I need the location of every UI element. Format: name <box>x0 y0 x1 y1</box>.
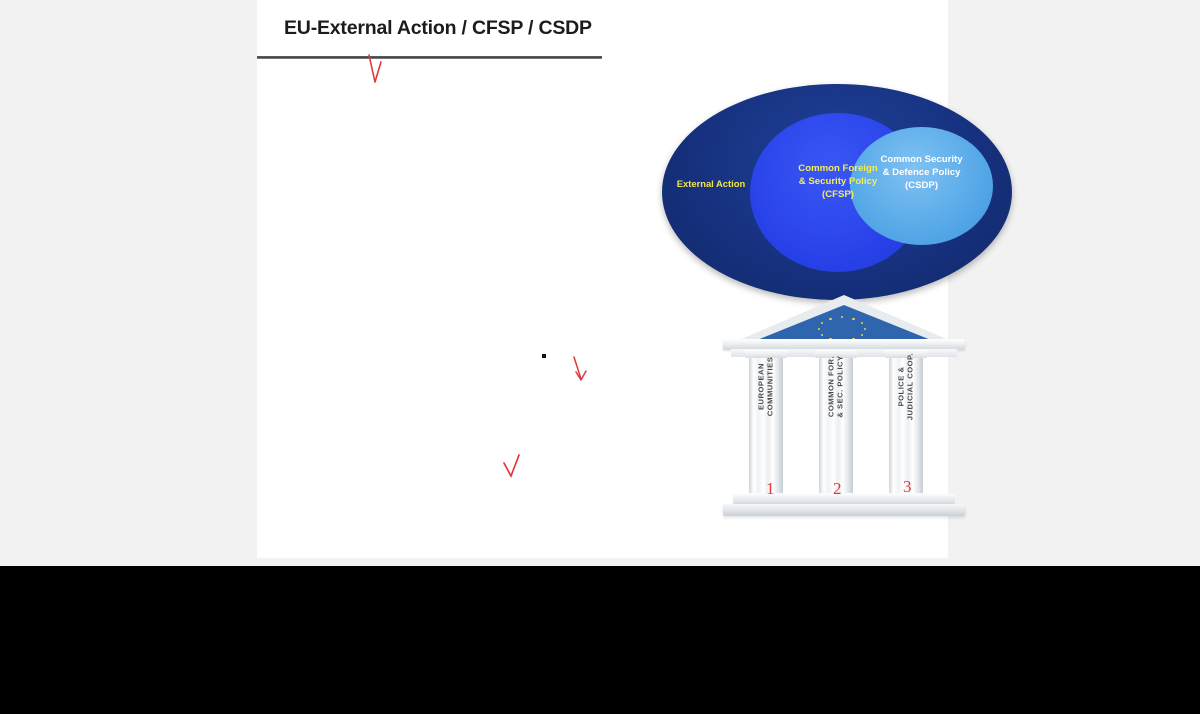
background-column-2 <box>855 359 885 491</box>
check-mark-pillar-1-icon <box>504 455 519 476</box>
pillar-3-line1: POLICE & <box>897 367 906 407</box>
arrow-to-pillar-2-icon <box>369 55 381 82</box>
presentation-slide[interactable]: EU-External Action / CFSP / CSDP Externa… <box>257 0 948 558</box>
title-underline-rule <box>257 56 602 59</box>
participant-filmstrip <box>0 566 1200 714</box>
eu-star <box>864 328 866 330</box>
pillar-3-police-judicial-cooperation: POLICE & JUDICIAL COOP. <box>889 357 923 494</box>
bullet-marker <box>542 354 546 358</box>
eu-star <box>818 328 820 330</box>
pillar-3-label: POLICE & JUDICIAL COOP. <box>897 326 916 446</box>
slide-title: EU-External Action / CFSP / CSDP <box>284 17 592 40</box>
pillar-1-european-communities: EUROPEAN COMMUNITIES <box>749 357 783 494</box>
video-conference-window: EU-External Action / CFSP / CSDP Externa… <box>0 0 1200 714</box>
pillar-1-line2: COMMUNITIES <box>766 357 775 417</box>
annotation-number-2: 2 <box>833 479 842 499</box>
slide-number: 2 <box>1141 523 1145 532</box>
eu-star <box>821 322 823 324</box>
label-csdp: Common Security & Defence Policy (CSDP) <box>854 154 989 193</box>
stereobate <box>723 504 965 516</box>
shared-screen-stage: EU-External Action / CFSP / CSDP Externa… <box>0 0 1200 566</box>
eu-star <box>852 318 854 320</box>
pillar-2-line1: COMMON FOR. <box>827 356 836 417</box>
eu-star <box>861 334 863 336</box>
eu-star <box>841 316 843 318</box>
eu-star <box>861 322 863 324</box>
annotation-number-3: 3 <box>903 477 912 497</box>
nested-ellipse-diagram: External Action Common Foreign & Securit… <box>662 84 1012 300</box>
label-external-action: External Action <box>671 178 751 189</box>
label-csdp-line1: Common Security <box>854 154 989 167</box>
pillar-2-line2: & SEC. POLICY <box>836 355 845 417</box>
pillar-2-label: COMMON FOR. & SEC. POLICY <box>827 326 846 446</box>
pillar-1-line1: EUROPEAN <box>757 363 766 410</box>
label-csdp-line3: (CSDP) <box>854 180 989 193</box>
annotation-number-1: 1 <box>766 479 775 499</box>
eu-star <box>821 334 823 336</box>
arrow-down-pillar-2-icon <box>574 357 586 380</box>
pillar-3-line2: JUDICIAL COOP. <box>906 353 915 420</box>
pillar-2-common-foreign-security-policy: COMMON FOR. & SEC. POLICY <box>819 357 853 494</box>
label-csdp-line2: & Defence Policy <box>854 167 989 180</box>
eu-star <box>829 318 831 320</box>
background-column-1 <box>785 359 815 491</box>
pillar-1-label: EUROPEAN COMMUNITIES <box>757 326 776 446</box>
three-pillars-temple-graphic: EUROPEAN COMMUNITIES COMMON FOR. & SEC. … <box>723 295 965 517</box>
